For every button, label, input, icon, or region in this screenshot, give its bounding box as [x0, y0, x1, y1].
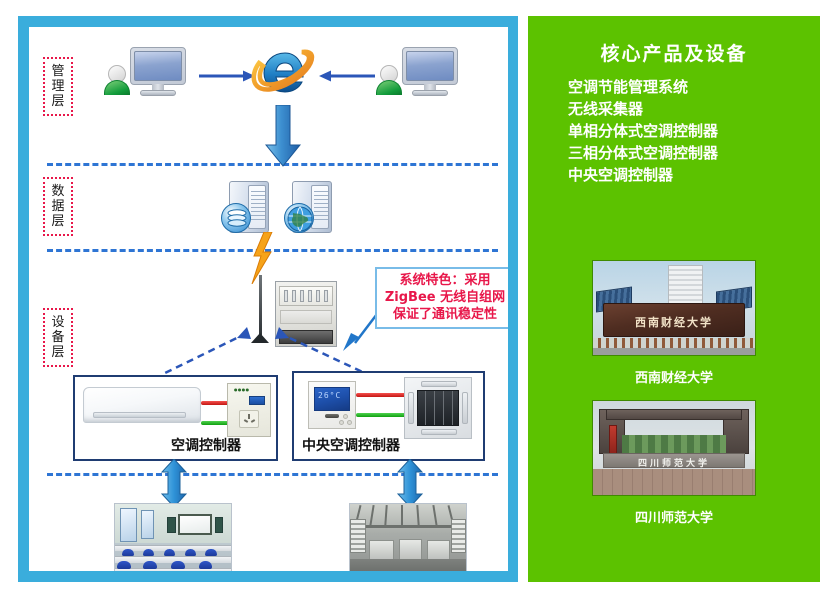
monitor-icon-right — [402, 47, 458, 97]
user-body — [376, 80, 402, 95]
product-item: 三相分体式空调控制器 — [568, 142, 718, 164]
sicnu-sign-wall: 四川师范大学 — [603, 453, 746, 468]
products-panel: 核心产品及设备 空调节能管理系统 无线采集器 单相分体式空调控制器 三相分体式空… — [528, 16, 820, 582]
product-item: 空调节能管理系统 — [568, 76, 718, 98]
products-title: 核心产品及设备 — [528, 39, 820, 66]
callout-line-1: 系统特色：采用 — [383, 272, 507, 289]
wire-green — [356, 413, 408, 417]
swufe-sign-text: 西南财经大学 — [604, 314, 745, 330]
university-block-swufe: 西南财经大学 西南财经大学 — [528, 260, 820, 386]
central-ac-controller-box: 26°C — [292, 371, 485, 461]
user-body — [104, 80, 130, 95]
split-ac-controller-box: ●●●● 空调控制器 — [73, 375, 278, 461]
ac-vent — [93, 412, 186, 418]
wire-red — [356, 393, 408, 397]
swufe-sign-stone: 西南财经大学 — [603, 303, 746, 337]
callout-line-2-rest: 无线自组网 — [440, 290, 505, 305]
arrow-right-icon — [199, 69, 255, 83]
diagram-frame: 管 理 层 数 据 层 设 备 层 — [18, 16, 518, 582]
layer-char: 层 — [48, 94, 68, 109]
product-item: 中央空调控制器 — [568, 164, 718, 186]
layer-char: 备 — [48, 330, 68, 345]
classroom-photo — [114, 503, 232, 571]
power-socket — [239, 410, 259, 428]
layer-char: 设 — [48, 315, 68, 330]
products-list: 空调节能管理系统 无线采集器 单相分体式空调控制器 三相分体式空调控制器 中央空… — [568, 76, 718, 186]
layer-tag-device: 设 备 层 — [43, 308, 73, 367]
antenna-icon — [259, 275, 262, 335]
feature-callout: 系统特色：采用 ZigBee 无线自组网 保证了通讯稳定性 — [375, 267, 508, 329]
swufe-photo: 西南财经大学 — [592, 260, 756, 356]
monitor-base — [412, 90, 448, 96]
arrow-left-icon — [319, 69, 375, 83]
internet-explorer-icon — [251, 43, 315, 101]
split-ac-controller-label: 空调控制器 — [171, 435, 241, 455]
layer-char: 层 — [48, 214, 68, 229]
meter-dial-row — [279, 286, 333, 306]
wall-controller: ●●●● — [227, 383, 271, 437]
machine-room-photo — [349, 503, 467, 571]
user-icon-right — [376, 65, 402, 95]
controller-lcd — [249, 396, 265, 405]
layer-char: 数 — [48, 184, 68, 199]
layer-tag-data: 数 据 层 — [43, 177, 73, 236]
meter-display — [280, 310, 332, 324]
layer-char: 管 — [48, 64, 68, 79]
user-icon-left — [104, 65, 130, 95]
sicnu-photo: 四川师范大学 — [592, 400, 756, 496]
cassette-ac-unit — [404, 377, 472, 439]
university-block-sicnu: 四川师范大学 四川师范大学 — [528, 400, 820, 526]
swufe-caption: 西南财经大学 — [528, 367, 820, 386]
central-ac-controller-label: 中央空调控制器 — [302, 435, 400, 455]
layer-char: 理 — [48, 79, 68, 94]
callout-line-2: ZigBee 无线自组网 — [383, 289, 507, 306]
arrow-down-icon — [265, 105, 301, 167]
link-arrow-classroom — [161, 459, 187, 507]
monitor-screen — [130, 47, 186, 85]
layer-char: 层 — [48, 345, 68, 360]
link-arrow-machine-room — [397, 459, 423, 507]
diagram-canvas: 管 理 层 数 据 层 设 备 层 — [29, 27, 508, 571]
thermostat-panel: 26°C — [308, 381, 356, 429]
web-server-icon — [284, 179, 336, 235]
product-item: 单相分体式空调控制器 — [568, 120, 718, 142]
zigbee-brand: ZigBee — [385, 290, 436, 305]
antenna-base — [251, 333, 269, 343]
split-ac-unit — [83, 387, 201, 423]
monitor-base — [140, 90, 176, 96]
database-server-icon — [221, 179, 273, 235]
cassette-grille — [417, 390, 459, 426]
database-badge — [221, 203, 251, 233]
callout-line-3: 保证了通讯稳定性 — [383, 306, 507, 323]
product-item: 无线采集器 — [568, 98, 718, 120]
sicnu-sign-text: 四川师范大学 — [604, 456, 745, 469]
globe-badge — [284, 203, 314, 233]
separator-device-sites — [47, 473, 498, 476]
thermostat-lcd: 26°C — [314, 387, 350, 411]
controller-brand: ●●●● — [234, 387, 250, 392]
layer-tag-management: 管 理 层 — [43, 57, 73, 116]
sicnu-caption: 四川师范大学 — [528, 507, 820, 526]
layer-char: 据 — [48, 199, 68, 214]
thermostat-ir-window — [325, 414, 339, 418]
lcd-digits: 26°C — [318, 392, 341, 400]
monitor-icon-left — [130, 47, 186, 97]
monitor-screen — [402, 47, 458, 85]
slide-root: 管 理 层 数 据 层 设 备 层 — [0, 0, 820, 595]
